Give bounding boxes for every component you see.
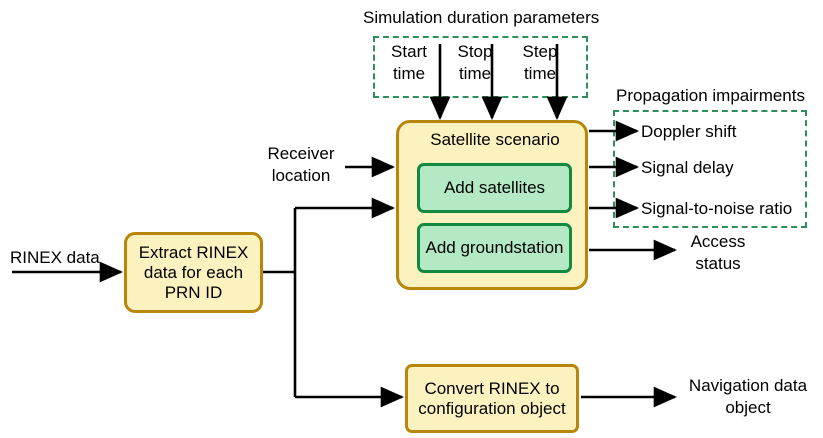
block-satellite-scenario[interactable]: Satellite scenario Add satellites Add gr…: [396, 120, 588, 290]
group-title-simulation-duration: Simulation duration parameters: [363, 8, 599, 28]
extract-line2: data for each: [139, 263, 249, 283]
input-rinex-data: RINEX data: [10, 248, 100, 268]
add-groundstation-label: Add groundstation: [426, 238, 564, 258]
param-start-time-line1: Start: [378, 42, 440, 62]
param-step-time-line1: Step: [512, 42, 568, 62]
block-add-satellites[interactable]: Add satellites: [417, 163, 572, 213]
output-navigation-data-object-line1: Navigation data: [678, 376, 818, 396]
block-add-groundstation[interactable]: Add groundstation: [417, 223, 572, 273]
block-extract-rinex[interactable]: Extract RINEX data for each PRN ID: [124, 232, 263, 313]
block-convert-rinex-label: Convert RINEX to configuration object: [418, 379, 565, 419]
input-receiver-location-line1: Receiver: [258, 144, 344, 164]
output-navigation-data-object-line2: object: [678, 398, 818, 418]
output-signal-delay: Signal delay: [641, 158, 734, 178]
satellite-scenario-title: Satellite scenario: [399, 130, 591, 150]
block-extract-rinex-label: Extract RINEX data for each PRN ID: [139, 243, 249, 303]
output-access-status-line1: Access: [678, 232, 758, 252]
extract-line1: Extract RINEX: [139, 243, 249, 263]
group-title-propagation-impairments: Propagation impairments: [616, 86, 805, 106]
add-satellites-label: Add satellites: [444, 178, 545, 198]
param-stop-time-line2: time: [447, 64, 503, 84]
block-convert-rinex[interactable]: Convert RINEX to configuration object: [405, 364, 579, 433]
convert-line2: configuration object: [418, 399, 565, 419]
param-step-time-line2: time: [512, 64, 568, 84]
param-stop-time-line1: Stop: [447, 42, 503, 62]
diagram-canvas: Simulation duration parameters Start tim…: [0, 0, 823, 438]
output-doppler-shift: Doppler shift: [641, 122, 736, 142]
output-access-status-line2: status: [678, 254, 758, 274]
input-receiver-location-line2: location: [258, 166, 344, 186]
extract-line3: PRN ID: [139, 283, 249, 303]
output-signal-to-noise-ratio: Signal-to-noise ratio: [641, 199, 792, 219]
param-start-time-line2: time: [378, 64, 440, 84]
convert-line1: Convert RINEX to: [418, 379, 565, 399]
